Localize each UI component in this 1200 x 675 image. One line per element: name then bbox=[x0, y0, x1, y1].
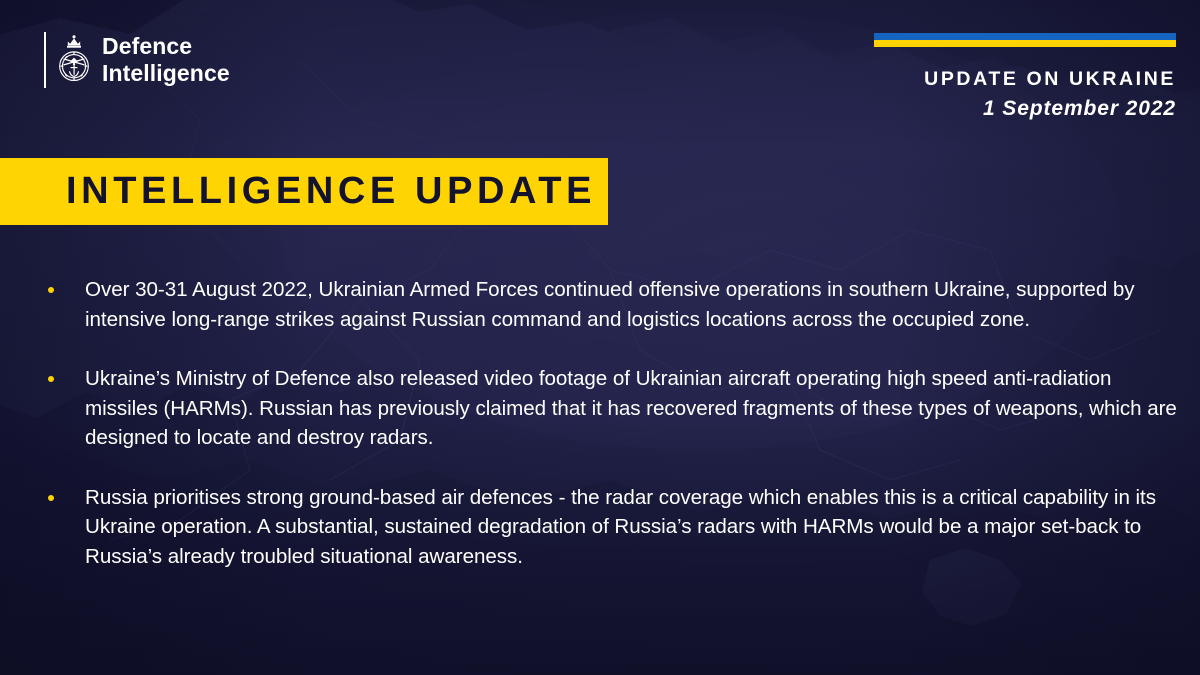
brand-line-defence: Defence bbox=[102, 33, 230, 60]
vertical-rule-divider bbox=[44, 32, 46, 88]
list-item: Russia prioritises strong ground-based a… bbox=[48, 483, 1178, 572]
bullet-list: Over 30-31 August 2022, Ukrainian Armed … bbox=[48, 275, 1178, 571]
update-title: UPDATE ON UKRAINE bbox=[874, 68, 1176, 91]
flag-stripe-blue bbox=[874, 33, 1176, 40]
bullet-text: Over 30-31 August 2022, Ukrainian Armed … bbox=[85, 275, 1178, 334]
ukraine-flag-bar bbox=[874, 33, 1176, 47]
bullet-dot-icon bbox=[48, 495, 54, 501]
bullet-text: Ukraine’s Ministry of Defence also relea… bbox=[85, 364, 1178, 453]
royal-crest-icon bbox=[57, 32, 91, 88]
intelligence-update-banner: INTELLIGENCE UPDATE bbox=[0, 158, 608, 225]
bullet-dot-icon bbox=[48, 376, 54, 382]
bullet-dot-icon bbox=[48, 287, 54, 293]
update-header: UPDATE ON UKRAINE 1 September 2022 bbox=[874, 33, 1176, 121]
flag-stripe-yellow bbox=[874, 40, 1176, 47]
brand-lockup: Defence Intelligence bbox=[44, 32, 230, 88]
bullet-text: Russia prioritises strong ground-based a… bbox=[85, 483, 1178, 572]
brand-name: Defence Intelligence bbox=[102, 33, 230, 86]
banner-title: INTELLIGENCE UPDATE bbox=[0, 170, 596, 213]
intelligence-update-slide: Defence Intelligence UPDATE ON UKRAINE 1… bbox=[0, 0, 1200, 675]
list-item: Over 30-31 August 2022, Ukrainian Armed … bbox=[48, 275, 1178, 334]
brand-line-intelligence: Intelligence bbox=[102, 60, 230, 87]
update-date: 1 September 2022 bbox=[874, 97, 1176, 121]
list-item: Ukraine’s Ministry of Defence also relea… bbox=[48, 364, 1178, 453]
